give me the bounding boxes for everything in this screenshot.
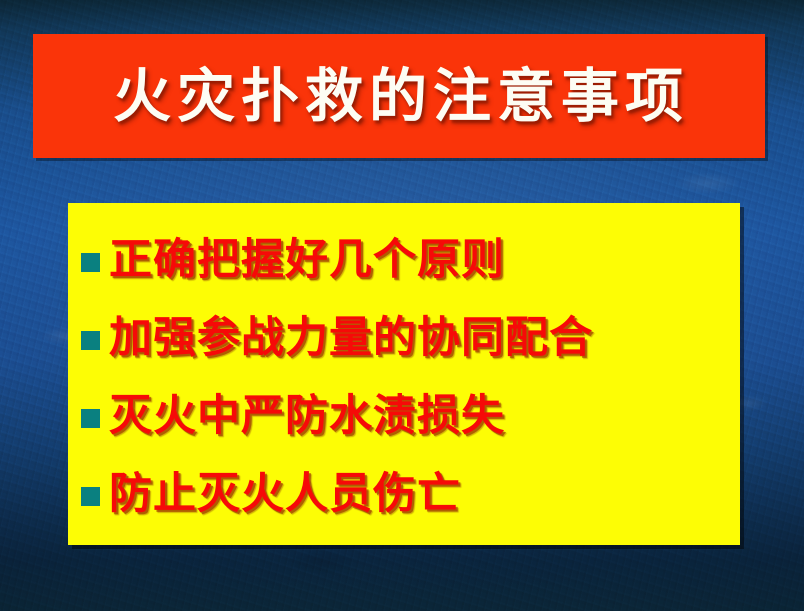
list-item: 防止灭火人员伤亡 bbox=[68, 455, 740, 533]
list-item-label: 防止灭火人员伤亡 bbox=[109, 473, 461, 516]
list-item-label: 加强参战力量的协同配合 bbox=[109, 317, 593, 360]
square-bullet-icon bbox=[81, 331, 100, 350]
content-box: 正确把握好几个原则 加强参战力量的协同配合 灭火中严防水渍损失 防止灭火人员伤亡 bbox=[68, 203, 740, 545]
title-banner: 火灾扑救的注意事项 bbox=[33, 34, 765, 158]
list-item: 正确把握好几个原则 bbox=[68, 221, 740, 299]
list-item: 加强参战力量的协同配合 bbox=[68, 299, 740, 377]
slide-title: 火灾扑救的注意事项 bbox=[109, 67, 689, 125]
list-item-label: 灭火中严防水渍损失 bbox=[109, 395, 505, 438]
list-item-label: 正确把握好几个原则 bbox=[109, 239, 505, 282]
square-bullet-icon bbox=[81, 409, 100, 428]
bullet-list: 正确把握好几个原则 加强参战力量的协同配合 灭火中严防水渍损失 防止灭火人员伤亡 bbox=[68, 203, 740, 545]
square-bullet-icon bbox=[81, 487, 100, 506]
square-bullet-icon bbox=[81, 253, 100, 272]
presentation-slide: 火灾扑救的注意事项 正确把握好几个原则 加强参战力量的协同配合 灭火中严防水渍损… bbox=[0, 0, 804, 611]
list-item: 灭火中严防水渍损失 bbox=[68, 377, 740, 455]
